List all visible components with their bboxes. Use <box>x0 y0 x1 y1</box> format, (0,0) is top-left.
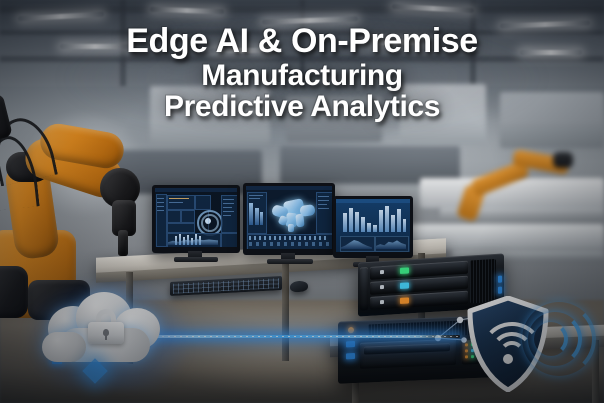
status-led-blue <box>346 353 355 359</box>
bar <box>373 225 377 232</box>
monitor-base <box>174 257 218 262</box>
bar <box>385 206 389 232</box>
status-led-orange <box>348 327 354 333</box>
thumbnail-tile <box>221 233 237 247</box>
bar <box>403 219 406 232</box>
cloud-lock-icon <box>42 288 174 382</box>
bar <box>355 212 359 232</box>
kpi-tile <box>167 223 195 233</box>
padlock-icon <box>88 310 124 344</box>
metrics-monitor[interactable] <box>333 196 413 258</box>
cad-tool-palette <box>316 192 332 234</box>
hero-banner: Edge AI & On-Premise Manufacturing Predi… <box>0 0 604 403</box>
dashboard-right-rail <box>221 195 237 233</box>
status-led-blue <box>346 341 355 347</box>
kpi-tile <box>167 210 181 223</box>
cloud-puff <box>42 332 86 362</box>
bar <box>379 210 383 232</box>
monitor-base <box>267 259 313 264</box>
status-led-cyan <box>400 282 409 289</box>
background-robot-arm <box>455 150 575 222</box>
bar <box>343 213 347 232</box>
metrics-screen-inner <box>336 199 410 252</box>
wifi-center-dot <box>503 354 513 364</box>
title-line-1: Edge AI & On-Premise <box>0 24 604 59</box>
dashboard-screen <box>155 188 237 247</box>
analytics-dashboard-monitor[interactable] <box>152 185 240 253</box>
padlock-keyhole-pin <box>105 334 107 340</box>
title-line-3: Predictive Analytics <box>0 92 604 123</box>
cad-model-monitor[interactable] <box>243 183 335 255</box>
bar <box>349 208 353 232</box>
status-led-green <box>400 267 409 274</box>
status-led-blue <box>498 276 502 283</box>
title-line-2: Manufacturing <box>0 61 604 92</box>
signal-wave-outer <box>522 302 596 376</box>
workbench-leg <box>282 263 289 361</box>
kpi-tile <box>195 195 211 210</box>
page-title: Edge AI & On-Premise Manufacturing Predi… <box>0 24 604 123</box>
bar <box>367 223 371 232</box>
bar <box>391 215 395 232</box>
bar <box>397 209 401 232</box>
wifi-arc-inner <box>499 341 525 367</box>
kpi-tile <box>181 210 195 223</box>
bar <box>361 217 365 232</box>
cad-screen <box>246 186 332 249</box>
status-led-orange <box>400 297 409 304</box>
status-led-blue <box>498 287 502 294</box>
robot-3d-model <box>270 196 318 232</box>
